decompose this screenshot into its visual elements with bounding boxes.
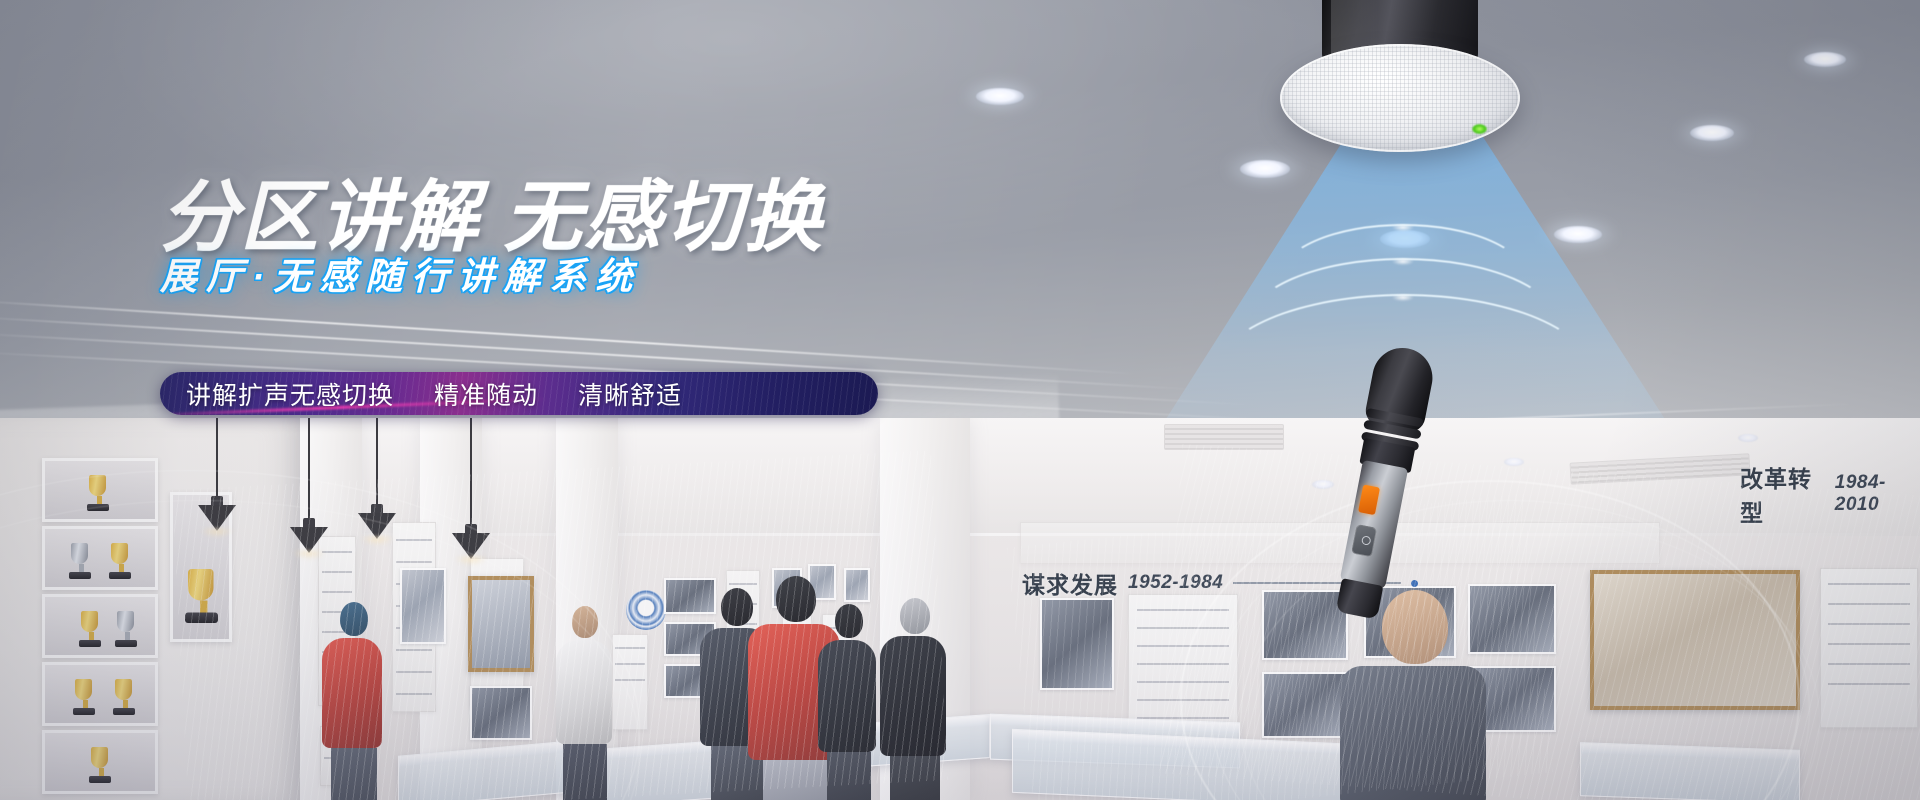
exhibit-text-panel [612,634,648,730]
portrait-photo [468,576,534,672]
visitor-figure [880,598,950,800]
trophy-icon [117,611,137,647]
page-title: 分区讲解 无感切换 [160,178,824,256]
visitor-figure [1340,590,1490,800]
trophy-icon [75,679,95,715]
exhibit-photo [844,568,870,602]
downlight-icon [976,88,1024,105]
trophy-icon [188,569,218,623]
visitor-figure [556,606,614,800]
page-subtitle: 展厅·无感随行讲解系统 [160,258,641,295]
trophy-icon [111,543,131,579]
feature-item-2: 精准随动 [434,376,538,412]
trophy-icon [115,679,135,715]
shelf-box [42,526,158,590]
exhibit-title-text: 改革转型 [1740,460,1826,528]
pendant-lamp [452,418,490,566]
exhibit-period-text: 1952-1984 [1128,572,1223,594]
trophy-icon [81,611,101,647]
exhibit-text-panel [1820,568,1918,728]
display-case [1580,742,1800,800]
mic-body [1339,460,1408,590]
exhibit-photo [1262,672,1348,738]
downlight-icon [1804,52,1846,67]
visitor-figure [818,604,880,800]
shelf-box [42,662,158,726]
downlight-icon [1312,480,1334,489]
exhibit-title-text: 谋求发展 [1022,566,1118,600]
downlight-icon [1240,160,1290,178]
trophy-icon [71,543,91,579]
feature-pill-bar: 讲解扩声无感切换 精准随动 清晰舒适 [160,372,878,415]
feature-item-1: 讲解扩声无感切换 [186,376,394,412]
promo-banner: 谋求发展 1952-1984 改革转型 1984-2010 [0,0,1920,800]
trophy-wall [0,418,300,800]
pendant-lamp [290,418,328,560]
exhibit-photo [400,568,446,644]
shelf-box [42,730,158,794]
shelf-box [42,458,158,522]
downlight-icon [1380,230,1430,248]
pendant-lamp [358,418,396,546]
exhibit-photo [470,686,532,740]
trophy-icon [91,747,111,783]
shelf-box [42,594,158,658]
downlight-icon [1738,434,1758,442]
painting-frame [1590,570,1800,710]
trophy-icon [89,475,109,511]
exhibit-period-text: 1984-2010 [1835,472,1920,516]
exhibit-photo [1040,598,1114,690]
feature-list: 讲解扩声无感切换 精准随动 清晰舒适 [160,376,878,412]
air-vent-icon [1164,424,1284,450]
downlight-icon [1554,226,1602,243]
feature-item-3: 清晰舒适 [578,376,682,412]
downlight-icon [1690,125,1734,141]
bullet-dot [1411,580,1418,587]
pendant-lamp [198,418,236,538]
downlight-icon [1504,458,1524,466]
school-crest-icon [626,590,666,630]
exhibit-title-2: 改革转型 1984-2010 [1740,460,1920,528]
exhibition-hall-scene: 谋求发展 1952-1984 改革转型 1984-2010 [0,418,1920,800]
visitor-figure [322,602,386,800]
